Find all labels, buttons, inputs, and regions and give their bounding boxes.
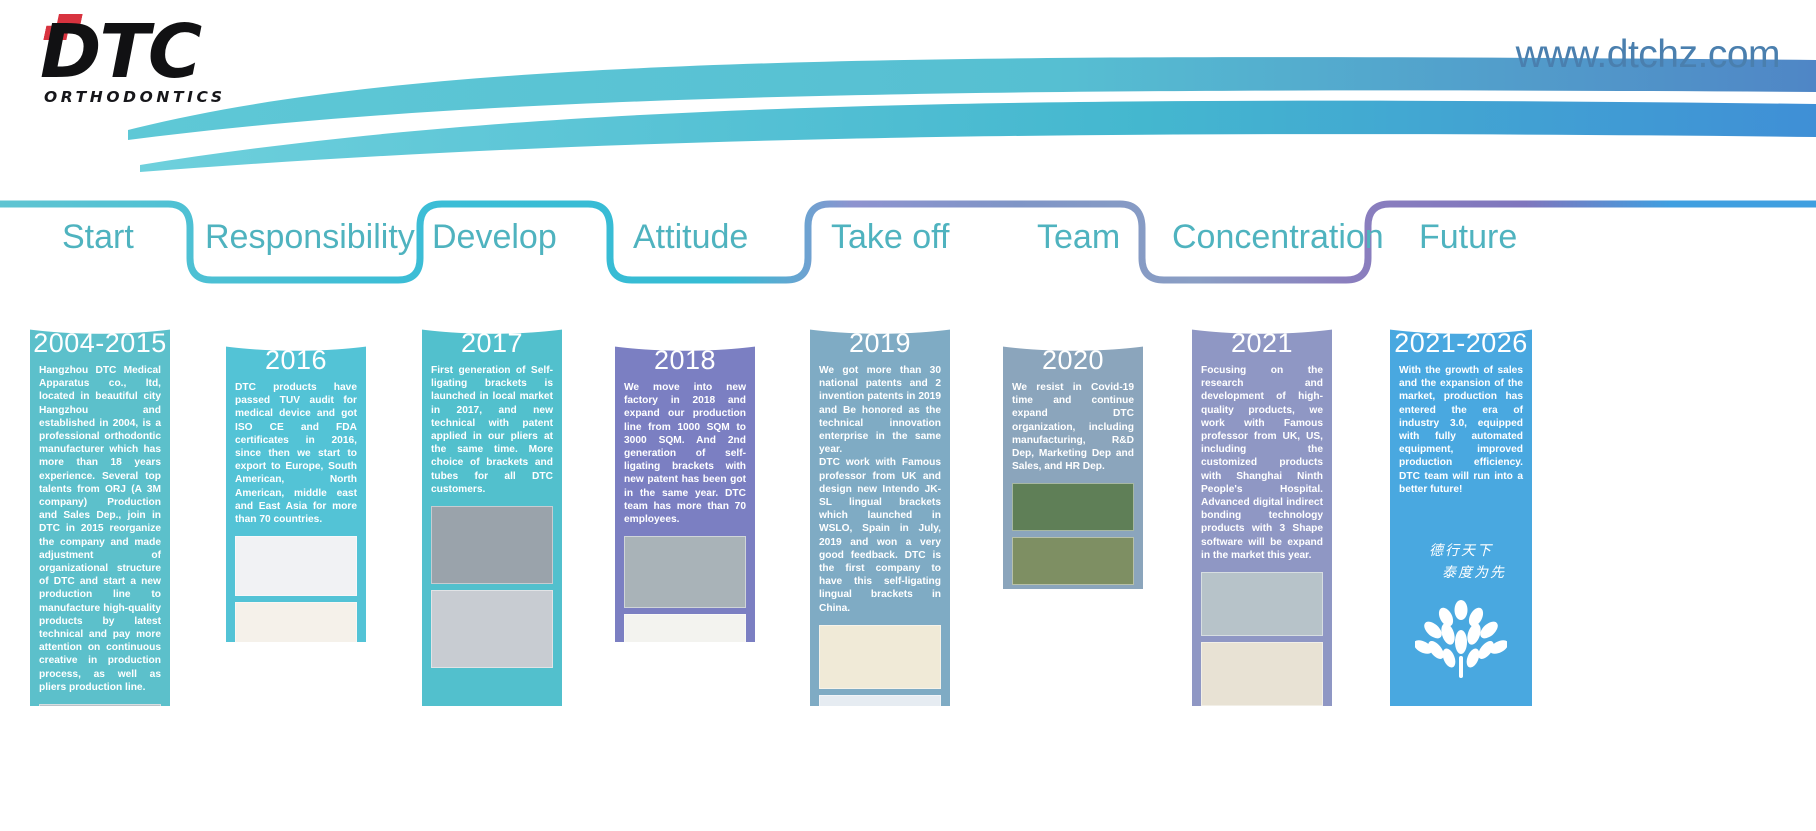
card-description: Hangzhou DTC Medical Apparatus co., ltd,… [30, 364, 170, 694]
card-year: 2021-2026 [1390, 328, 1532, 359]
card-year: 2021 [1192, 328, 1332, 359]
team-group-photo-1 [1012, 483, 1134, 531]
card-description: DTC products have passed TUV audit for m… [226, 381, 366, 526]
timeline-card-2019[interactable]: 2019We got more than 30 national patents… [810, 288, 950, 706]
timeline-card-2016[interactable]: 2016DTC products have passed TUV audit f… [226, 305, 366, 642]
patent-certificate-photo [624, 614, 746, 642]
tree-logo-icon [1415, 600, 1507, 678]
timeline-card-2004-2015[interactable]: 2004-2015Hangzhou DTC Medical Apparatus … [30, 288, 170, 706]
card-year: 2017 [422, 328, 562, 359]
team-group-photo-2 [1012, 537, 1134, 585]
card-description: Focusing on the research and development… [1192, 364, 1332, 562]
card-photo-group [810, 625, 950, 706]
office-lobby-photo [39, 704, 161, 706]
timeline-card-2020[interactable]: 2020We resist in Covid-19 time and conti… [1003, 305, 1143, 589]
chinese-slogan: 德行天下泰度为先 [1390, 540, 1532, 584]
card-photo-group [30, 704, 170, 706]
card-photo-group [1192, 572, 1332, 706]
factory-exterior-photo [1201, 572, 1323, 636]
card-year: 2018 [615, 345, 755, 376]
fda-certificate-photo [235, 602, 357, 642]
timeline-section-take-off: Take off [831, 218, 949, 264]
card-description: We got more than 30 national patents and… [810, 364, 950, 615]
card-year: 2016 [226, 345, 366, 376]
tree-logo-wrap [1390, 600, 1532, 678]
website-url[interactable]: www.dtchz.com [1516, 33, 1780, 77]
card-description: With the growth of sales and the expansi… [1390, 364, 1532, 496]
card-description: We move into new factory in 2018 and exp… [615, 381, 755, 526]
card-year: 2004-2015 [30, 328, 170, 359]
dtc-logo: DTC ORTHODONTICS [18, 8, 238, 108]
card-photo-group [226, 536, 366, 642]
card-description: First generation of Self-ligating bracke… [422, 364, 562, 496]
card-photo-group [1003, 483, 1143, 585]
card-photo-group [422, 506, 562, 668]
timeline-section-future: Future [1419, 218, 1517, 264]
logo-wordmark: DTC [40, 14, 200, 90]
dental-aligner-tray-photo [1201, 642, 1323, 706]
page-header: DTC ORTHODONTICS www.dtchz.com [0, 0, 1816, 180]
dtc-trade-show-booth-photo [431, 590, 553, 668]
header-swoosh-decoration [0, 0, 1816, 180]
card-photo-group [615, 536, 755, 642]
innovation-award-photo [819, 625, 941, 689]
timeline-section-team: Team [1037, 218, 1120, 264]
timeline-section-develop: Develop [432, 218, 557, 264]
logo-subtitle: ORTHODONTICS [44, 88, 226, 106]
wslo-banner-photo [819, 695, 941, 706]
chinese-slogan-line-1: 德行天下 [1390, 540, 1532, 562]
timeline-section-responsibility: Responsibility [205, 218, 415, 264]
timeline-card-2018[interactable]: 2018We move into new factory in 2018 and… [615, 305, 755, 642]
card-year: 2019 [810, 328, 950, 359]
iso-certificate-photo [235, 536, 357, 596]
timeline-section-concentration: Concentration [1172, 218, 1384, 264]
timeline-section-attitude: Attitude [633, 218, 748, 264]
card-year: 2020 [1003, 345, 1143, 376]
timeline-card-2021[interactable]: 2021Focusing on the research and develop… [1192, 288, 1332, 706]
timeline-section-start: Start [62, 218, 134, 264]
card-description: We resist in Covid-19 time and continue … [1003, 381, 1143, 473]
chinese-slogan-line-2: 泰度为先 [1390, 562, 1532, 584]
timeline-card-2021-2026[interactable]: 2021-2026With the growth of sales and th… [1390, 288, 1532, 706]
factory-building-photo [624, 536, 746, 608]
exhibition-booth-photo [431, 506, 553, 584]
timeline-card-2017[interactable]: 2017First generation of Self-ligating br… [422, 288, 562, 706]
